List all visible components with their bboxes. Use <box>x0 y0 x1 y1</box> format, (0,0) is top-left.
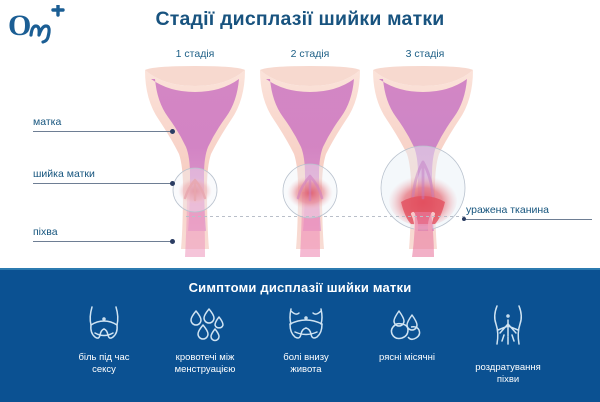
stage-caption-2: 2 стадія <box>265 48 355 60</box>
leader-line-cervix <box>33 183 173 184</box>
vaginal-canal <box>412 212 434 257</box>
uterus-diagram-stage-2 <box>250 62 370 257</box>
symptoms-title: Симптоми дисплазії шийки матки <box>0 280 600 295</box>
caption-line-1: кровотечі між <box>176 352 235 363</box>
vaginal-irritation-icon <box>486 304 530 348</box>
caption-line-2: менструацією <box>175 364 236 375</box>
leader-dot-affected-tissue <box>462 217 466 221</box>
caption-line-2: сексу <box>92 364 116 375</box>
infographic-root: O Стадії дисплазії шийки матки 1 стадія … <box>0 0 600 400</box>
label-vagina: піхва <box>33 226 58 238</box>
caption-line-1: болі внизу <box>283 352 328 363</box>
caption-line-2: піхви <box>497 374 519 385</box>
stage-caption-1: 1 стадія <box>150 48 240 60</box>
leader-line-vagina <box>33 241 173 242</box>
stage-caption-3: 3 стадія <box>380 48 470 60</box>
symptom-item-intermenstrual-bleeding: кровотечі між менструацією <box>157 304 253 375</box>
uterus-diagram-stage-3 <box>363 62 483 257</box>
symptom-caption: кровотечі між менструацією <box>175 352 236 375</box>
symptoms-banner: Симптоми дисплазії шийки матки біль під … <box>0 268 600 402</box>
lower-abdomen-pain-icon <box>283 304 329 348</box>
label-uterus: матка <box>33 116 61 128</box>
page-title: Стадії дисплазії шийки матки <box>0 8 600 31</box>
label-cervix: шийка матки <box>33 168 95 180</box>
label-affected-tissue: уражена тканина <box>466 204 549 216</box>
blood-drops-icon <box>183 304 227 348</box>
caption-line-1: роздратування <box>475 362 541 373</box>
leader-line-affected-tissue-dashed <box>186 216 468 217</box>
leader-line-uterus <box>33 131 173 132</box>
symptom-caption: роздратування піхви <box>475 362 541 385</box>
caption-line-2: живота <box>290 364 321 375</box>
symptom-caption: рясні місячні <box>379 352 435 364</box>
leader-dot-uterus <box>170 129 175 134</box>
symptom-item-vaginal-irritation: роздратування піхви <box>460 304 556 375</box>
symptom-caption: біль під час сексу <box>78 352 129 375</box>
pelvis-pain-icon <box>82 304 126 348</box>
caption-line-1: біль під час <box>78 352 129 363</box>
symptom-item-heavy-periods: рясні місячні <box>359 304 455 364</box>
symptoms-list: біль під час сексу кровотечі між <box>56 304 556 396</box>
leader-dot-cervix <box>170 181 175 186</box>
caption-line-1: рясні місячні <box>379 352 435 363</box>
symptom-item-lower-abdominal-pain: болі внизу живота <box>258 304 354 375</box>
uterus-diagram-stage-1 <box>135 62 255 257</box>
leader-line-affected-tissue <box>466 219 592 220</box>
heavy-flow-icon <box>385 304 429 348</box>
symptom-item-pain-during-sex: біль під час сексу <box>56 304 152 375</box>
symptom-caption: болі внизу живота <box>283 352 328 375</box>
leader-dot-vagina <box>170 239 175 244</box>
